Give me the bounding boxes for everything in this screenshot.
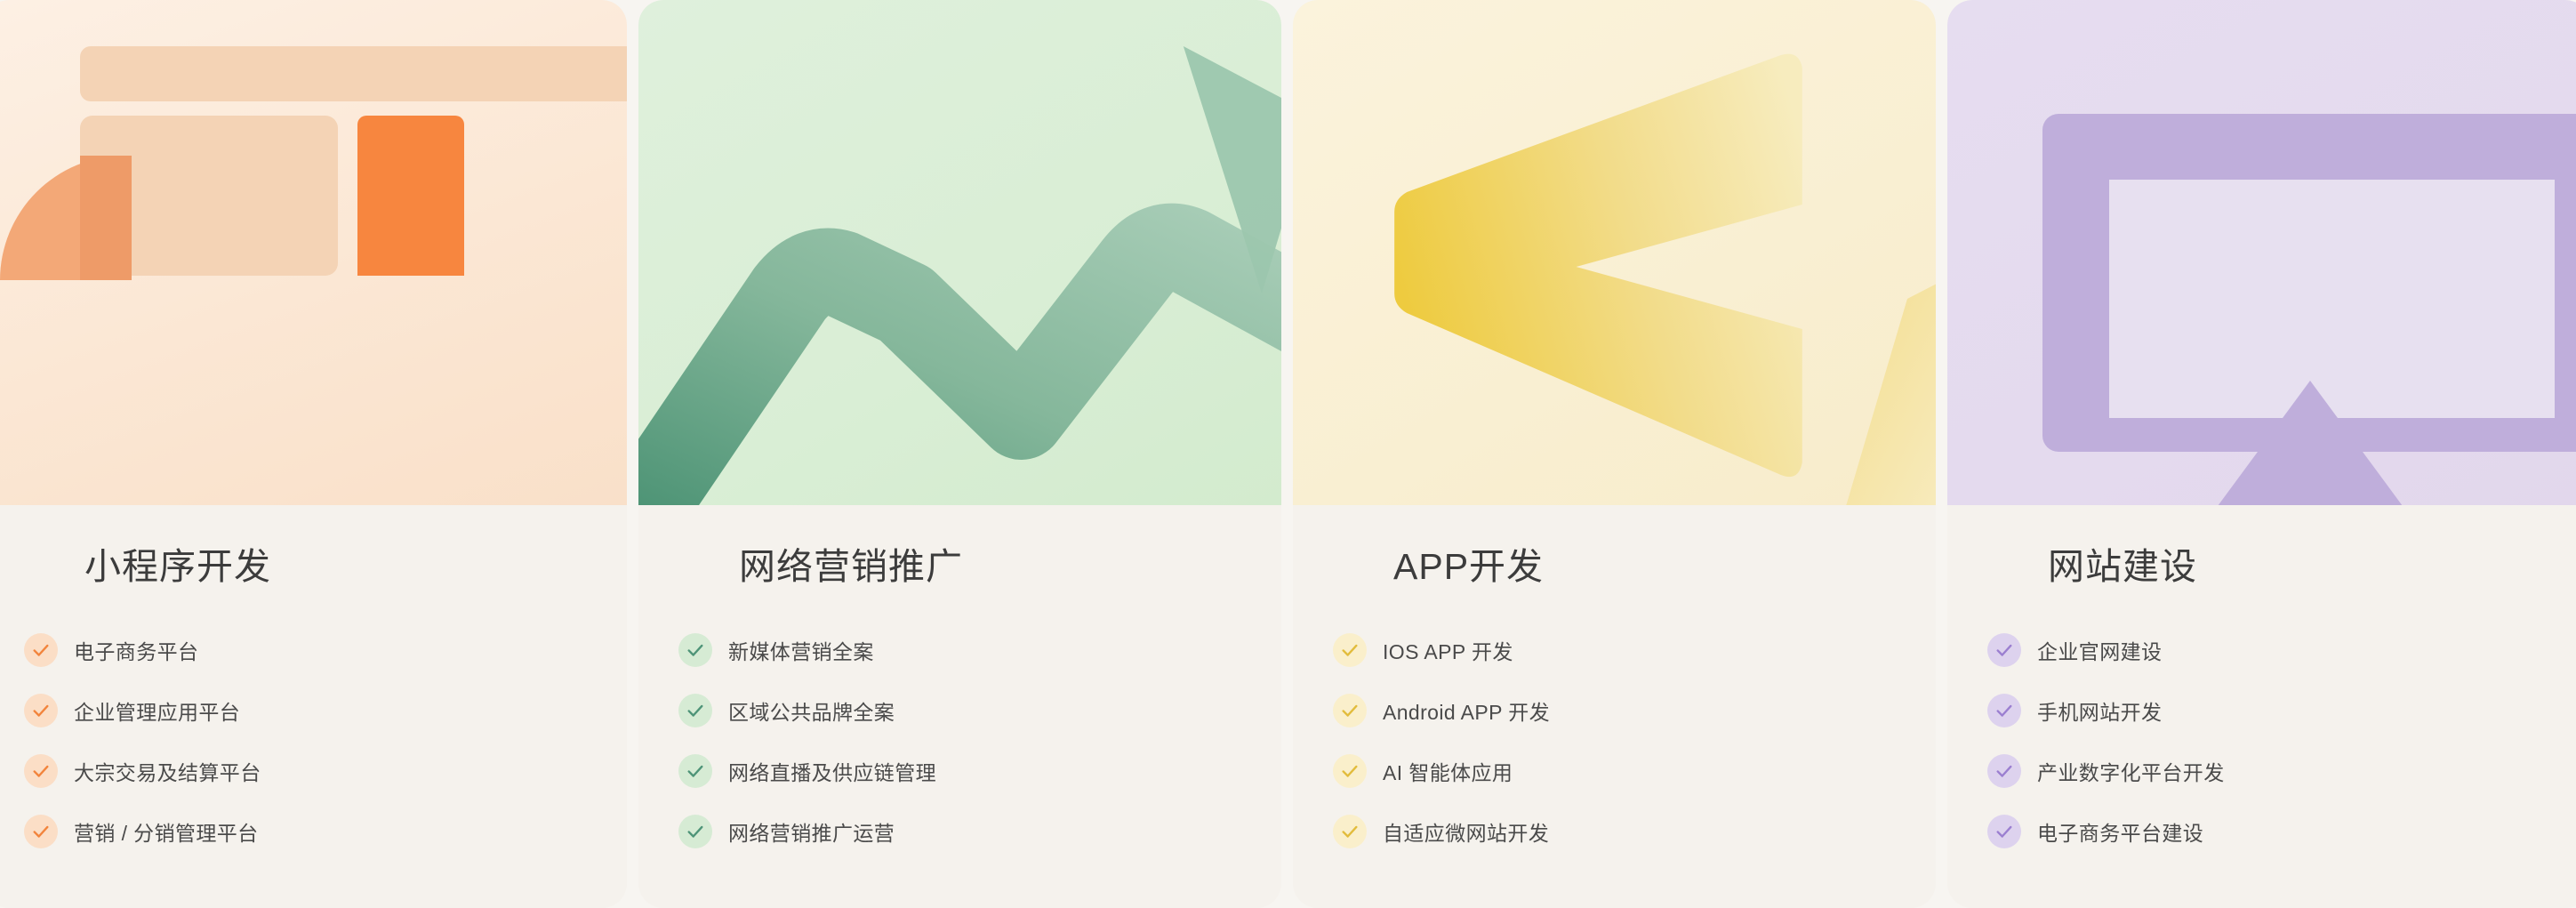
code-chevron-illustration [1293, 0, 1936, 505]
check-icon [1333, 694, 1367, 727]
feature-list: 企业官网建设 手机网站开发 产业数字化平台开发 [1947, 620, 2576, 862]
check-icon [1333, 633, 1367, 667]
service-card-mini-program[interactable]: 小程序开发 电子商务平台 企业管理应用平台 [0, 0, 627, 908]
card-title: 网站建设 [2048, 544, 2576, 590]
feature-item[interactable]: 产业数字化平台开发 [1987, 741, 2576, 801]
feature-item[interactable]: 网络直播及供应链管理 [678, 741, 1281, 801]
monitor-triangle-shape [2205, 381, 2415, 505]
trending-up-arrow-illustration [638, 0, 1281, 505]
monitor-frame-illustration [1947, 0, 2576, 505]
feature-item[interactable]: AI 智能体应用 [1333, 741, 1936, 801]
feature-label: 网络直播及供应链管理 [728, 756, 936, 786]
card-title: 小程序开发 [84, 544, 627, 590]
check-icon [1333, 815, 1367, 848]
feature-label: 电子商务平台 [74, 635, 198, 665]
feature-list: IOS APP 开发 Android APP 开发 AI 智能体应用 [1293, 620, 1936, 862]
feature-label: 自适应微网站开发 [1383, 816, 1549, 847]
feature-label: IOS APP 开发 [1383, 635, 1513, 665]
feature-item[interactable]: 电子商务平台建设 [1987, 801, 2576, 862]
feature-label: 区域公共品牌全案 [728, 695, 895, 726]
check-icon [1333, 754, 1367, 788]
feature-label: 大宗交易及结算平台 [74, 756, 261, 786]
feature-label: 企业管理应用平台 [74, 695, 240, 726]
service-card-website-construction[interactable]: 网站建设 企业官网建设 手机网站开发 [1947, 0, 2576, 908]
feature-label: 电子商务平台建设 [2037, 816, 2203, 847]
feature-label: 新媒体营销全案 [728, 635, 874, 665]
feature-label: AI 智能体应用 [1383, 756, 1513, 786]
check-icon [678, 633, 712, 667]
feature-item[interactable]: IOS APP 开发 [1333, 620, 1936, 680]
card-body: 网站建设 企业官网建设 手机网站开发 [1947, 505, 2576, 908]
check-icon [24, 815, 58, 848]
card-body: APP开发 IOS APP 开发 Android APP 开发 [1293, 505, 1936, 908]
check-icon [24, 694, 58, 727]
feature-item[interactable]: 手机网站开发 [1987, 680, 2576, 741]
service-cards-row: 小程序开发 电子商务平台 企业管理应用平台 [0, 0, 2576, 908]
feature-item[interactable]: 自适应微网站开发 [1333, 801, 1936, 862]
card-title: APP开发 [1393, 544, 1936, 590]
feature-item[interactable]: 营销 / 分销管理平台 [24, 801, 627, 862]
check-icon [1987, 633, 2021, 667]
check-icon [678, 694, 712, 727]
feature-item[interactable]: 企业管理应用平台 [24, 680, 627, 741]
feature-item[interactable]: 新媒体营销全案 [678, 620, 1281, 680]
block-quarter-overlap-shape [80, 156, 132, 280]
service-card-network-marketing[interactable]: 网络营销推广 新媒体营销全案 区域公共品牌全案 [638, 0, 1281, 908]
feature-label: Android APP 开发 [1383, 695, 1550, 726]
feature-item[interactable]: 网络营销推广运营 [678, 801, 1281, 862]
block-accent-rect-shape [357, 116, 464, 276]
check-icon [1987, 694, 2021, 727]
feature-label: 营销 / 分销管理平台 [74, 816, 259, 847]
feature-label: 企业官网建设 [2037, 635, 2162, 665]
mini-program-blocks-illustration [0, 0, 627, 505]
feature-list: 新媒体营销全案 区域公共品牌全案 网络直播及供应链管理 [638, 620, 1281, 862]
feature-label: 产业数字化平台开发 [2037, 756, 2225, 786]
card-title: 网络营销推广 [739, 544, 1281, 590]
feature-item[interactable]: 企业官网建设 [1987, 620, 2576, 680]
check-icon [24, 633, 58, 667]
check-icon [1987, 815, 2021, 848]
feature-item[interactable]: 电子商务平台 [24, 620, 627, 680]
check-icon [1987, 754, 2021, 788]
feature-label: 手机网站开发 [2037, 695, 2162, 726]
feature-item[interactable]: 大宗交易及结算平台 [24, 741, 627, 801]
block-bar-shape [80, 46, 627, 101]
card-body: 网络营销推广 新媒体营销全案 区域公共品牌全案 [638, 505, 1281, 908]
feature-label: 网络营销推广运营 [728, 816, 895, 847]
check-icon [678, 815, 712, 848]
feature-item[interactable]: 区域公共品牌全案 [678, 680, 1281, 741]
feature-item[interactable]: Android APP 开发 [1333, 680, 1936, 741]
card-body: 小程序开发 电子商务平台 企业管理应用平台 [0, 505, 627, 908]
feature-list: 电子商务平台 企业管理应用平台 大宗交易及结算平台 [0, 620, 627, 862]
check-icon [24, 754, 58, 788]
service-card-app-development[interactable]: APP开发 IOS APP 开发 Android APP 开发 [1293, 0, 1936, 908]
check-icon [678, 754, 712, 788]
